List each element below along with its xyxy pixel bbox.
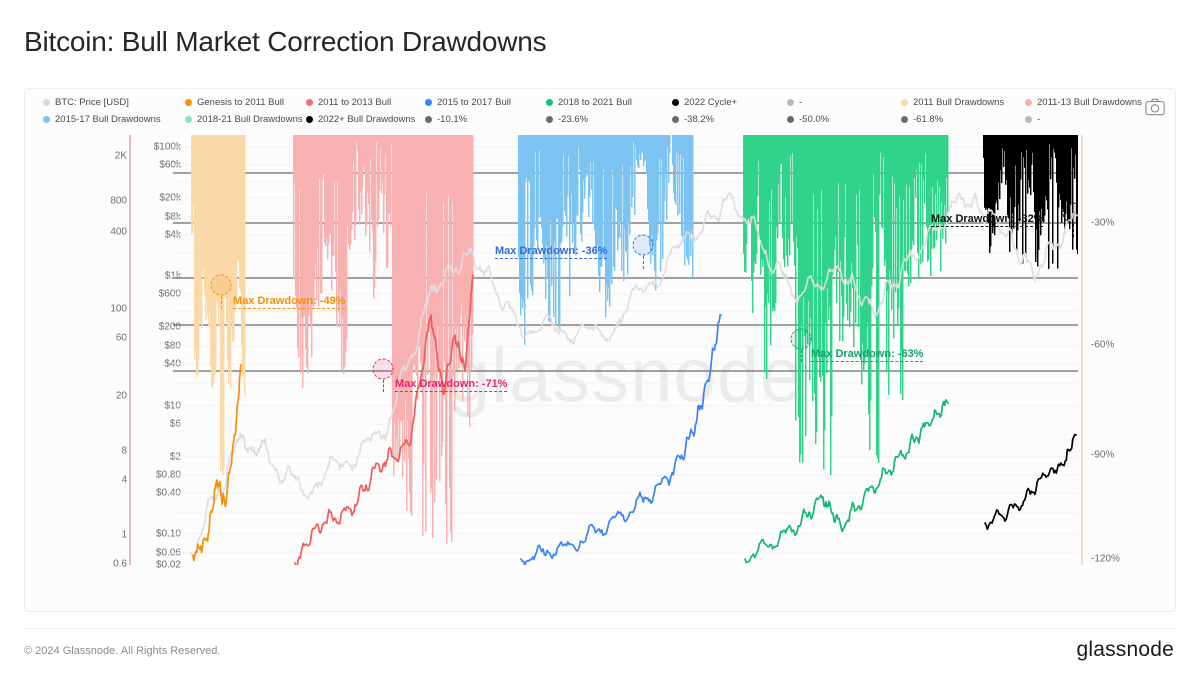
legend-item[interactable]: BTC: Price [USD] bbox=[43, 97, 129, 108]
legend-label: BTC: Price [USD] bbox=[55, 97, 129, 108]
legend-label: -61.8% bbox=[913, 114, 943, 125]
axis-tick-label: 8 bbox=[121, 446, 127, 457]
legend-swatch-icon bbox=[672, 116, 679, 123]
axis-tick-label: -30% bbox=[1091, 218, 1114, 229]
legend-swatch-icon bbox=[901, 116, 908, 123]
legend-item[interactable]: 2022+ Bull Drawdowns bbox=[306, 114, 415, 125]
max-drawdown-underline bbox=[495, 258, 607, 259]
max-drawdown-leader-line bbox=[1073, 224, 1074, 237]
x-axis-tick-label: 2020 bbox=[774, 611, 797, 612]
legend-swatch-icon bbox=[546, 99, 553, 106]
legend-item[interactable]: -61.8% bbox=[901, 114, 943, 125]
legend-label: 2015 to 2017 Bull bbox=[437, 97, 511, 108]
legend-label: 2018-21 Bull Drawdowns bbox=[197, 114, 303, 125]
max-drawdown-marker bbox=[633, 235, 654, 256]
legend-swatch-icon bbox=[1025, 116, 1032, 123]
legend-label: 2022+ Bull Drawdowns bbox=[318, 114, 415, 125]
footer-copyright: © 2024 Glassnode. All Rights Reserved. bbox=[24, 645, 220, 657]
legend-label: Genesis to 2011 Bull bbox=[197, 97, 284, 108]
legend-swatch-icon bbox=[425, 99, 432, 106]
legend-item[interactable]: 2018-21 Bull Drawdowns bbox=[185, 114, 303, 125]
axis-tick-label: 0.6 bbox=[113, 559, 127, 570]
x-axis-tick-label: 2013 bbox=[323, 611, 346, 612]
left-scale-divider bbox=[129, 135, 131, 565]
legend-item[interactable]: 2011-13 Bull Drawdowns bbox=[1025, 97, 1142, 108]
chart-page: Bitcoin: Bull Market Correction Drawdown… bbox=[0, 0, 1200, 691]
legend-swatch-icon bbox=[43, 116, 50, 123]
legend-swatch-icon bbox=[787, 99, 794, 106]
legend-label: -23.6% bbox=[558, 114, 588, 125]
legend-label: 2011 Bull Drawdowns bbox=[913, 97, 1004, 108]
axis-tick-label: 1 bbox=[121, 530, 127, 541]
legend-label: - bbox=[1037, 114, 1040, 125]
legend-swatch-icon bbox=[546, 116, 553, 123]
footer-brand: glassnode bbox=[1076, 638, 1174, 662]
legend-item[interactable]: 2015 to 2017 Bull bbox=[425, 97, 511, 108]
axis-tick-label: 100 bbox=[110, 304, 127, 315]
max-drawdown-leader-line bbox=[383, 380, 384, 392]
legend-label: -10.1% bbox=[437, 114, 467, 125]
legend-item[interactable]: - bbox=[787, 97, 802, 108]
x-axis-tick-label: 2018 bbox=[646, 611, 669, 612]
y-axis-left-outer: 2K80040010060208410.6 bbox=[81, 135, 127, 565]
axis-tick-label: 800 bbox=[110, 196, 127, 207]
legend-item[interactable]: 2011 to 2013 Bull bbox=[306, 97, 391, 108]
legend-label: 2022 Cycle+ bbox=[684, 97, 737, 108]
legend-swatch-icon bbox=[901, 99, 908, 106]
legend-item[interactable]: -10.1% bbox=[425, 114, 467, 125]
legend-swatch-icon bbox=[185, 116, 192, 123]
axis-tick-label: -60% bbox=[1091, 340, 1114, 351]
max-drawdown-underline bbox=[395, 391, 507, 392]
legend-swatch-icon bbox=[672, 99, 679, 106]
axis-tick-label: 400 bbox=[110, 227, 127, 238]
max-drawdown-label: Max Drawdown: -36% bbox=[495, 245, 607, 259]
chart-svg bbox=[173, 135, 1078, 565]
max-drawdown-underline bbox=[931, 226, 1043, 227]
axis-tick-label: 20 bbox=[116, 391, 127, 402]
chart-card: BTC: Price [USD]Genesis to 2011 Bull2011… bbox=[24, 88, 1176, 612]
legend-item[interactable]: 2022 Cycle+ bbox=[672, 97, 737, 108]
legend-swatch-icon bbox=[306, 99, 313, 106]
axis-tick-label: 60 bbox=[116, 333, 127, 344]
x-axis-tick-label: 2011 bbox=[195, 611, 218, 612]
legend-label: -38.2% bbox=[684, 114, 714, 125]
max-drawdown-label: Max Drawdown: -49% bbox=[233, 295, 345, 309]
max-drawdown-label: Max Drawdown: -63% bbox=[811, 348, 923, 362]
legend-label: -50.0% bbox=[799, 114, 829, 125]
y-axis-right: -30%-60%-90%-120% bbox=[1087, 135, 1147, 565]
legend-label: - bbox=[799, 97, 802, 108]
axis-tick-label: 2K bbox=[115, 150, 127, 161]
max-drawdown-label: Max Drawdown: -71% bbox=[395, 378, 507, 392]
legend-item[interactable]: -23.6% bbox=[546, 114, 588, 125]
legend-swatch-icon bbox=[787, 116, 794, 123]
max-drawdown-underline bbox=[811, 361, 923, 362]
max-drawdown-marker bbox=[791, 329, 812, 350]
legend-item[interactable]: 2011 Bull Drawdowns bbox=[901, 97, 1004, 108]
max-drawdown-leader-line bbox=[801, 350, 802, 362]
legend-swatch-icon bbox=[43, 99, 50, 106]
legend-item[interactable]: Genesis to 2011 Bull bbox=[185, 97, 284, 108]
x-axis-tick-label: 2012 bbox=[259, 611, 282, 612]
max-drawdown-underline bbox=[233, 308, 345, 309]
max-drawdown-marker bbox=[1063, 203, 1079, 224]
x-axis: 2011201220132014201520162017201820192020… bbox=[173, 569, 1078, 609]
axis-tick-label: 4 bbox=[121, 475, 127, 486]
legend-swatch-icon bbox=[185, 99, 192, 106]
legend-swatch-icon bbox=[425, 116, 432, 123]
page-title: Bitcoin: Bull Market Correction Drawdown… bbox=[24, 26, 546, 58]
x-axis-tick-label: 2023 bbox=[968, 611, 991, 612]
x-axis-tick-label: 2019 bbox=[710, 611, 733, 612]
legend-item[interactable]: - bbox=[1025, 114, 1040, 125]
camera-icon[interactable] bbox=[1145, 98, 1165, 116]
chart-canvas: glassnode Max Drawdown: -49%Max Drawdown… bbox=[173, 135, 1078, 565]
legend-item[interactable]: -38.2% bbox=[672, 114, 714, 125]
max-drawdown-leader-line bbox=[643, 256, 644, 269]
max-drawdown-marker bbox=[211, 275, 232, 296]
legend-label: 2011-13 Bull Drawdowns bbox=[1037, 97, 1142, 108]
plot-area: 2K80040010060208410.6 $100k$60k$20k$8k$4… bbox=[25, 135, 1176, 612]
x-axis-tick-label: 2014 bbox=[388, 611, 411, 612]
x-axis-tick-label: 2015 bbox=[452, 611, 475, 612]
legend-swatch-icon bbox=[1025, 99, 1032, 106]
legend-item[interactable]: -50.0% bbox=[787, 114, 829, 125]
axis-tick-label: -90% bbox=[1091, 450, 1114, 461]
x-axis-tick-label: 2024 bbox=[1032, 611, 1055, 612]
max-drawdown-label: Max Drawdown: -32% bbox=[931, 213, 1043, 227]
max-drawdown-leader-line bbox=[221, 296, 222, 309]
legend-swatch-icon bbox=[306, 116, 313, 123]
x-axis-tick-label: 2022 bbox=[903, 611, 926, 612]
chart-legend: BTC: Price [USD]Genesis to 2011 Bull2011… bbox=[25, 93, 1176, 133]
right-scale-divider bbox=[1081, 135, 1083, 565]
legend-label: 2018 to 2021 Bull bbox=[558, 97, 632, 108]
axis-tick-label: -120% bbox=[1091, 554, 1120, 565]
x-axis-tick-label: 2016 bbox=[517, 611, 540, 612]
x-axis-tick-label: 2021 bbox=[839, 611, 862, 612]
max-drawdown-marker bbox=[373, 359, 394, 380]
legend-label: 2015-17 Bull Drawdowns bbox=[55, 114, 161, 125]
legend-item[interactable]: 2015-17 Bull Drawdowns bbox=[43, 114, 161, 125]
legend-label: 2011 to 2013 Bull bbox=[318, 97, 391, 108]
x-axis-tick-label: 2017 bbox=[581, 611, 604, 612]
legend-item[interactable]: 2018 to 2021 Bull bbox=[546, 97, 632, 108]
footer-divider bbox=[24, 628, 1176, 629]
